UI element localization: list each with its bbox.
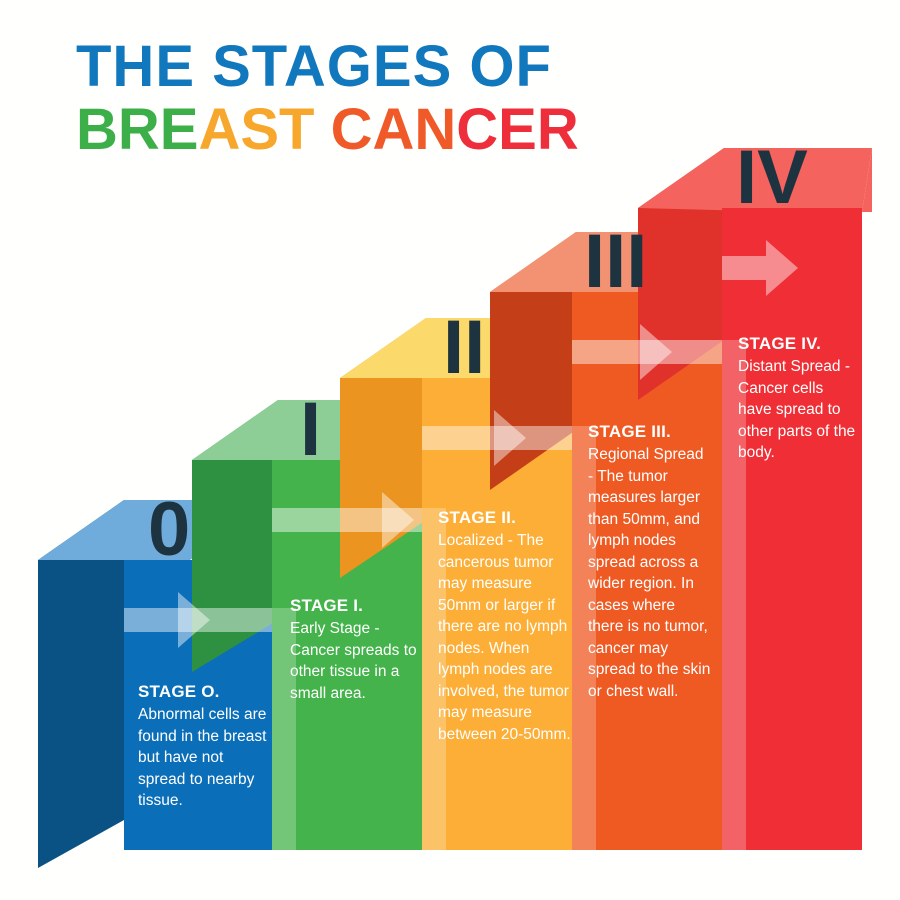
stage-1-body: Early Stage - Cancer spreads to other ti… [290,618,422,704]
stage-3-heading: STAGE III. [588,422,712,442]
stage-4-text: STAGE IV. Distant Spread - Cancer cells … [738,334,860,464]
title-part-bre: BRE [76,97,198,162]
numeral-stage-4: IV [736,140,808,216]
stage-3-body: Regional Spread - The tumor measures lar… [588,444,712,702]
stage-3-text: STAGE III. Regional Spread - The tumor m… [588,422,712,702]
stage-1-text: STAGE I. Early Stage - Cancer spreads to… [290,596,422,704]
arrow-0-to-1-tail [178,608,272,632]
title-line-2: BREAST CANCER [76,98,579,162]
stage-0-text: STAGE O. Abnormal cells are found in the… [138,682,270,812]
infographic-title: THE STAGES OF BREAST CANCER [76,36,579,162]
stage-2-heading: STAGE II. [438,508,574,528]
numeral-stage-2: II [443,310,485,386]
numeral-stage-0: 0 [148,492,190,568]
title-part-can: CAN [314,97,456,162]
stage-4-body: Distant Spread - Cancer cells have sprea… [738,356,860,464]
stage-4-heading: STAGE IV. [738,334,860,354]
stage-2-body: Localized - The cancerous tumor may meas… [438,530,574,745]
title-line-1: THE STAGES OF [76,36,579,98]
numeral-stage-1: I [300,392,321,468]
stage-0-heading: STAGE O. [138,682,270,702]
stage-0-body: Abnormal cells are found in the breast b… [138,704,270,812]
title-part-ast: AST [198,97,314,162]
title-part-cer: CER [456,97,578,162]
stage-1-heading: STAGE I. [290,596,422,616]
infographic-canvas: THE STAGES OF BREAST CANCER [0,0,900,900]
arrow-1-to-2-tail [382,508,422,532]
arrow-3-to-4-tail [640,340,722,364]
stage-2-text: STAGE II. Localized - The cancerous tumo… [438,508,574,745]
numeral-stage-3: III [584,224,647,300]
arrow-2-to-3-tail [494,426,572,450]
